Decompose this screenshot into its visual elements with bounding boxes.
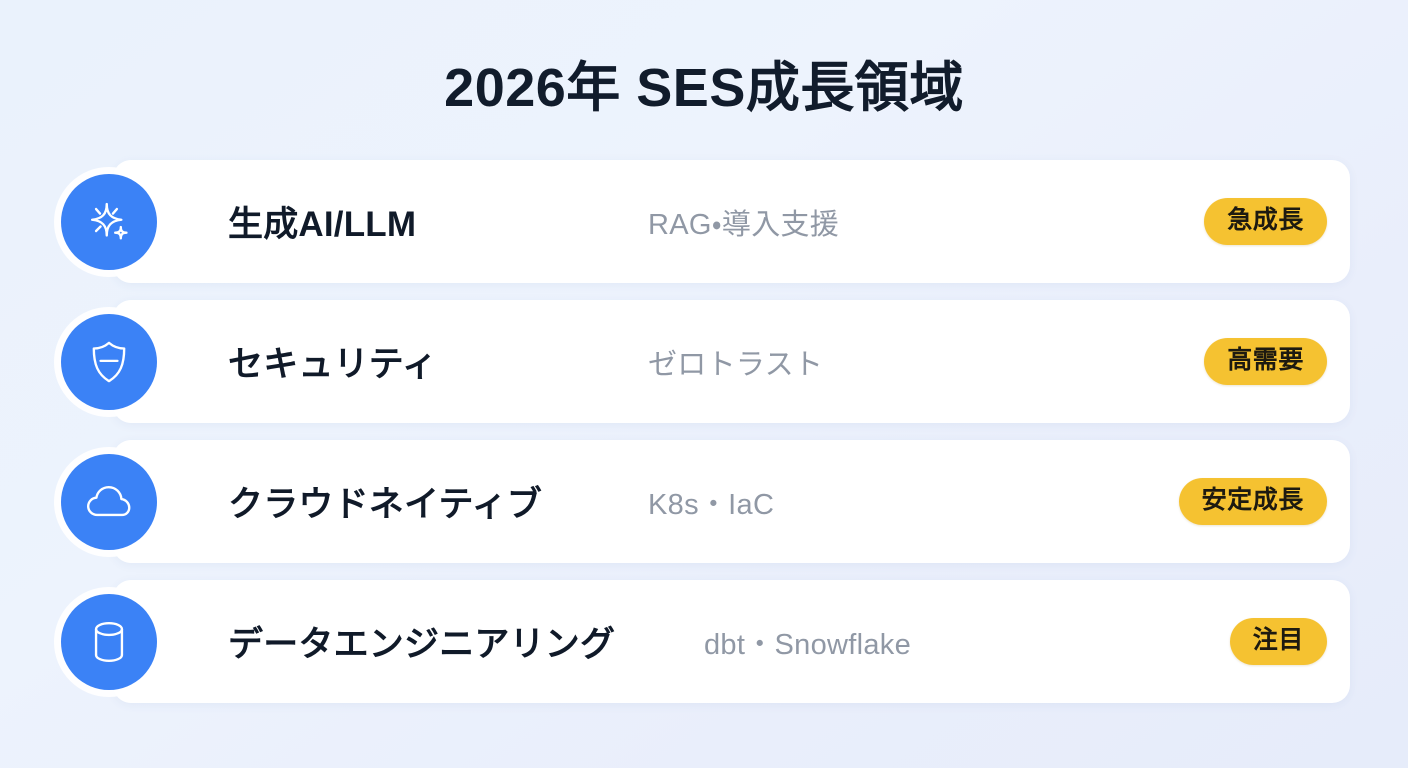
card-label: セキュリティ (228, 336, 648, 387)
status-badge[interactable]: 高需要 (1204, 338, 1327, 385)
card-subtitle: RAG・導入支援 (648, 201, 1204, 243)
page-title: 2026年 SES成長領域 (0, 58, 1408, 118)
card-row-generative-ai[interactable]: 生成AI/LLM RAG・導入支援 急成長 (113, 160, 1350, 283)
card-label: クラウドネイティブ (228, 476, 648, 527)
growth-area-card-list: 生成AI/LLM RAG・導入支援 急成長 セキュリティ ゼロトラスト 高需要 (0, 160, 1408, 703)
card-label: データエンジニアリング (228, 616, 704, 667)
status-badge[interactable]: 急成長 (1204, 198, 1327, 245)
card-row-data-engineering[interactable]: データエンジニアリング dbt・Snowflake 注目 (113, 580, 1350, 703)
shield-icon (61, 314, 157, 410)
card-row-security[interactable]: セキュリティ ゼロトラスト 高需要 (113, 300, 1350, 423)
card-label: 生成AI/LLM (228, 196, 648, 247)
cloud-icon (61, 454, 157, 550)
database-icon (61, 594, 157, 690)
slide-root: 2026年 SES成長領域 生成AI/LLM RAG・導入支援 急成長 (0, 0, 1408, 768)
card-subtitle: dbt・Snowflake (704, 621, 1230, 663)
status-badge[interactable]: 安定成長 (1179, 478, 1327, 525)
card-subtitle: ゼロトラスト (648, 341, 1204, 383)
sparkle-icon (61, 174, 157, 270)
card-subtitle: K8s・IaC (648, 481, 1179, 523)
status-badge[interactable]: 注目 (1230, 618, 1327, 665)
card-row-cloud-native[interactable]: クラウドネイティブ K8s・IaC 安定成長 (113, 440, 1350, 563)
title-container: 2026年 SES成長領域 (0, 0, 1408, 118)
